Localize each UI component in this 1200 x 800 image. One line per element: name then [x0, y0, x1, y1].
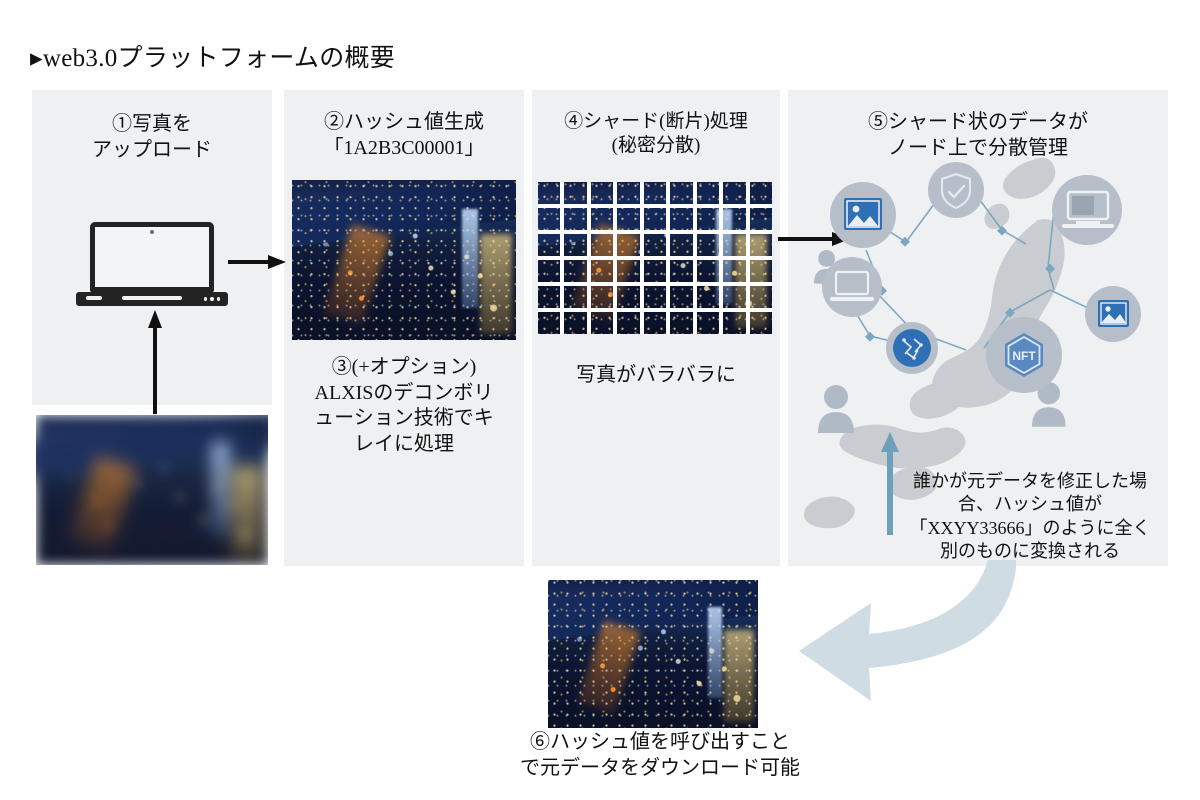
page-title: ▸web3.0プラットフォームの概要 [30, 38, 395, 74]
caption-step-1: ①写真を アップロード [32, 112, 272, 163]
shard-tile [670, 286, 692, 308]
shard-tile [564, 286, 586, 308]
shard-tile [750, 182, 772, 204]
shard-tile [591, 182, 613, 204]
hashed-photo [292, 180, 516, 340]
shard-tile [538, 208, 560, 230]
caption-step-4: ④シャード(断片)処理 (秘密分散) [532, 110, 780, 159]
shard-tile [697, 286, 719, 308]
arrow-step1-to-step2-icon [228, 255, 286, 269]
shard-tile [644, 260, 666, 282]
shard-tile [670, 182, 692, 204]
shard-tile [697, 182, 719, 204]
shard-tile [750, 208, 772, 230]
shard-tile [723, 182, 745, 204]
shard-tile [617, 286, 639, 308]
shard-tile [697, 312, 719, 334]
laptop-camera-icon [150, 230, 154, 234]
shard-tile [538, 182, 560, 204]
shard-tile [564, 182, 586, 204]
shard-tile [644, 312, 666, 334]
shard-tile [644, 208, 666, 230]
shard-tile [670, 208, 692, 230]
node-monitor-icon [1052, 175, 1122, 245]
shard-tile [617, 312, 639, 334]
node-network-share-icon [886, 322, 938, 374]
node-image-icon [830, 182, 896, 248]
shard-tile [538, 260, 560, 282]
download-return-arrow-icon [770, 560, 1020, 705]
upload-arrow-icon [148, 310, 162, 414]
shard-tile [591, 260, 613, 282]
node-image-icon-2 [1085, 286, 1141, 342]
slide-canvas: ▸web3.0プラットフォームの概要 ①写真を アップロード ②ハッシュ値生成 … [0, 0, 1200, 800]
shard-tile [564, 312, 586, 334]
shard-tile [723, 312, 745, 334]
shard-tile [617, 208, 639, 230]
shard-tile [697, 208, 719, 230]
shard-tile [723, 260, 745, 282]
shard-tile [538, 286, 560, 308]
shard-tile [591, 208, 613, 230]
shard-tile [670, 312, 692, 334]
shard-tile [564, 208, 586, 230]
shard-tile [644, 286, 666, 308]
original-photo-blurred [36, 415, 268, 565]
shard-tile [670, 260, 692, 282]
caption-step-6: ⑥ハッシュ値を呼び出すこと で元データをダウンロード可能 [450, 730, 870, 781]
shard-tile [617, 182, 639, 204]
node-laptop-icon [822, 257, 882, 317]
shard-tile [591, 234, 613, 256]
laptop-icon [76, 222, 228, 310]
shard-tile [591, 312, 613, 334]
shard-tile [723, 208, 745, 230]
shard-tile [723, 286, 745, 308]
shard-tile [670, 234, 692, 256]
caption-step-2: ②ハッシュ値生成 「1A2B3C00001」 [284, 110, 524, 161]
shard-tile [617, 260, 639, 282]
node-shield-check-icon [928, 162, 984, 218]
shard-tile [697, 260, 719, 282]
shard-tile [750, 234, 772, 256]
shard-tile [591, 286, 613, 308]
shard-tile [538, 234, 560, 256]
shard-tile [750, 286, 772, 308]
shard-tile [538, 312, 560, 334]
shard-grid [538, 182, 772, 334]
downloaded-photo [548, 580, 758, 728]
shard-tile [697, 234, 719, 256]
shard-tile [644, 182, 666, 204]
shard-tile [750, 260, 772, 282]
shard-tile [750, 312, 772, 334]
shard-tile [617, 234, 639, 256]
shard-tile [723, 234, 745, 256]
shard-tile [564, 234, 586, 256]
shard-tile [564, 260, 586, 282]
shard-tile [644, 234, 666, 256]
node-nft-badge-icon: NFT [986, 317, 1062, 393]
hash-change-note: 誰かが元データを修正した場 合、ハッシュ値が 「XXYY33666」のように全く… [880, 470, 1180, 564]
caption-step-4b: 写真がバラバラに [532, 363, 780, 389]
nft-badge-label: NFT [1012, 349, 1036, 363]
caption-step-3: ③(+オプション) ALXISのデコンボリ ューション技術でキ レイに処理 [284, 355, 524, 457]
